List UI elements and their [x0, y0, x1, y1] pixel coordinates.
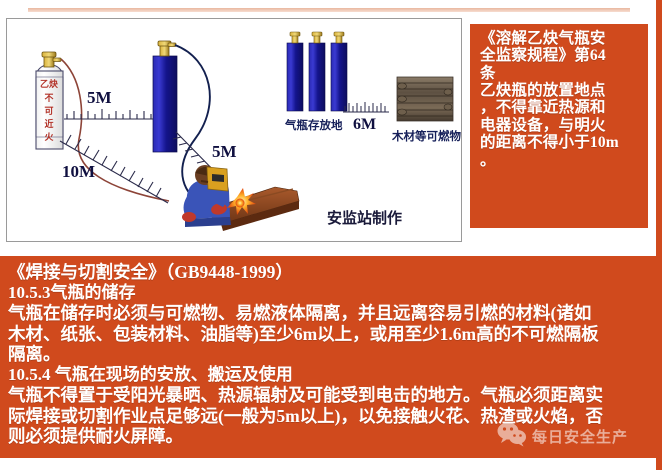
measure-label-6m: 6M [353, 116, 376, 133]
storage-area-label: 气瓶存放地 [284, 118, 343, 132]
clause-1053-body-line: 木材、纸张、包装材料、油脂等)至少6m以上，或用至少1.6m高的不可燃隔板 [8, 324, 648, 345]
welder-figure-icon [182, 165, 299, 231]
safety-distance-diagram: 乙炔 不 可 近 火 5M [6, 18, 462, 242]
clause-1053-title: 10.5.3气瓶的储存 [8, 283, 648, 304]
svg-text:不: 不 [44, 93, 53, 103]
clause-1054-body-line: 则必须提供耐火屏障。 [8, 426, 648, 447]
svg-text:火: 火 [44, 132, 54, 142]
ruler-5m-horizontal [64, 109, 153, 119]
callout-line: 乙炔瓶的放置地点 [480, 82, 640, 99]
ruler-6m [343, 102, 389, 112]
callout-line: 。 [480, 152, 640, 169]
measure-label-5m-left: 5M [87, 88, 112, 107]
clause-1054-title: 10.5.4 气瓶在现场的安放、搬运及使用 [8, 365, 648, 386]
clause-1053-body-line: 隔离。 [8, 344, 648, 365]
combustible-material-label: 木材等可燃物 [391, 129, 461, 143]
callout-line: 电器设备，与明火 [480, 117, 640, 134]
oxygen-cylinder-icon [153, 41, 177, 152]
callout-line: 《溶解乙炔气瓶安 [480, 30, 640, 47]
right-accent-bar-bottom [656, 250, 662, 470]
cylinder-storage-group-icon [287, 32, 347, 111]
standard-text-block: 《焊接与切割安全》（GB9448-1999） 10.5.3气瓶的储存 气瓶在储存… [0, 256, 656, 458]
svg-text:可: 可 [44, 106, 53, 116]
top-divider-rule [28, 8, 630, 12]
regulation-callout: 《溶解乙炔气瓶安 全监察规程》第64 条 乙炔瓶的放置地点 ，不得靠近热源和 电… [470, 24, 648, 228]
svg-text:乙炔: 乙炔 [40, 78, 58, 89]
producer-stamp-label: 安监站制作 [327, 209, 402, 227]
callout-line: ，不得靠近热源和 [480, 99, 640, 116]
clause-1054-body-line: 气瓶不得置于受阳光暴晒、热源辐射及可能受到电击的地方。气瓶必须距离实 [8, 385, 648, 406]
svg-text:近: 近 [44, 118, 53, 129]
callout-line: 全监察规程》第64 [480, 47, 640, 64]
right-accent-bar-top [656, 0, 662, 250]
clause-1054-body-line: 际焊接或切割作业点足够远(一般为5m以上)，以免接触火花、热渣或火焰，否 [8, 406, 648, 427]
callout-line: 的距离不得小于10m [480, 134, 640, 151]
measure-label-10m: 10M [62, 162, 95, 181]
wood-pile-icon [397, 77, 453, 121]
measure-label-5m-welder: 5M [212, 142, 237, 161]
standard-title: 《焊接与切割安全》（GB9448-1999） [8, 262, 648, 283]
poster-root: 乙炔 不 可 近 火 5M [0, 0, 662, 470]
callout-line: 条 [480, 65, 640, 82]
clause-1053-body-line: 气瓶在储存时必须与可燃物、易燃液体隔离，并且远离容易引燃的材料(诸如 [8, 303, 648, 324]
